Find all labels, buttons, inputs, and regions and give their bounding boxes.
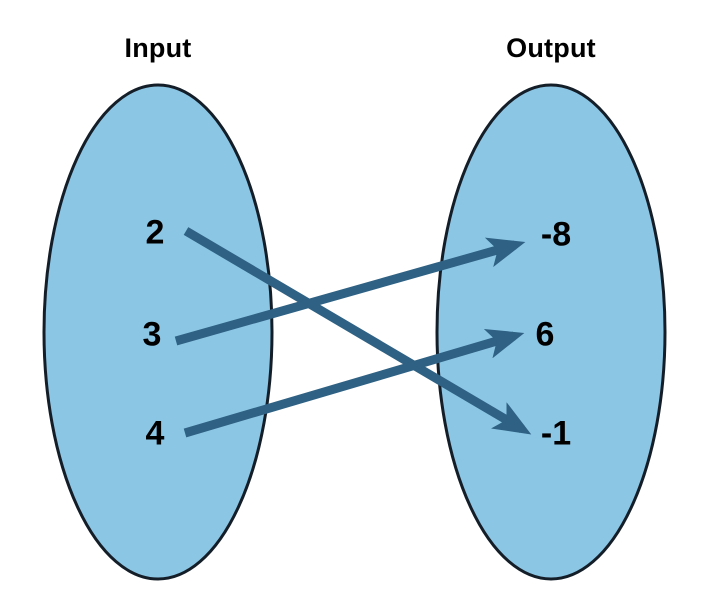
- input-element-3: 3: [143, 316, 162, 355]
- output-element-minus8: -8: [541, 216, 571, 255]
- input-element-4: 4: [146, 415, 165, 454]
- input-set-heading: Input: [125, 33, 192, 64]
- output-element-minus1: -1: [541, 415, 571, 454]
- output-set-heading: Output: [506, 33, 596, 64]
- output-element-6: 6: [536, 316, 555, 355]
- mapping-diagram-svg: [0, 0, 702, 608]
- mapping-diagram: Input Output 2 3 4 -8 6 -1: [0, 0, 702, 608]
- input-element-2: 2: [146, 214, 165, 253]
